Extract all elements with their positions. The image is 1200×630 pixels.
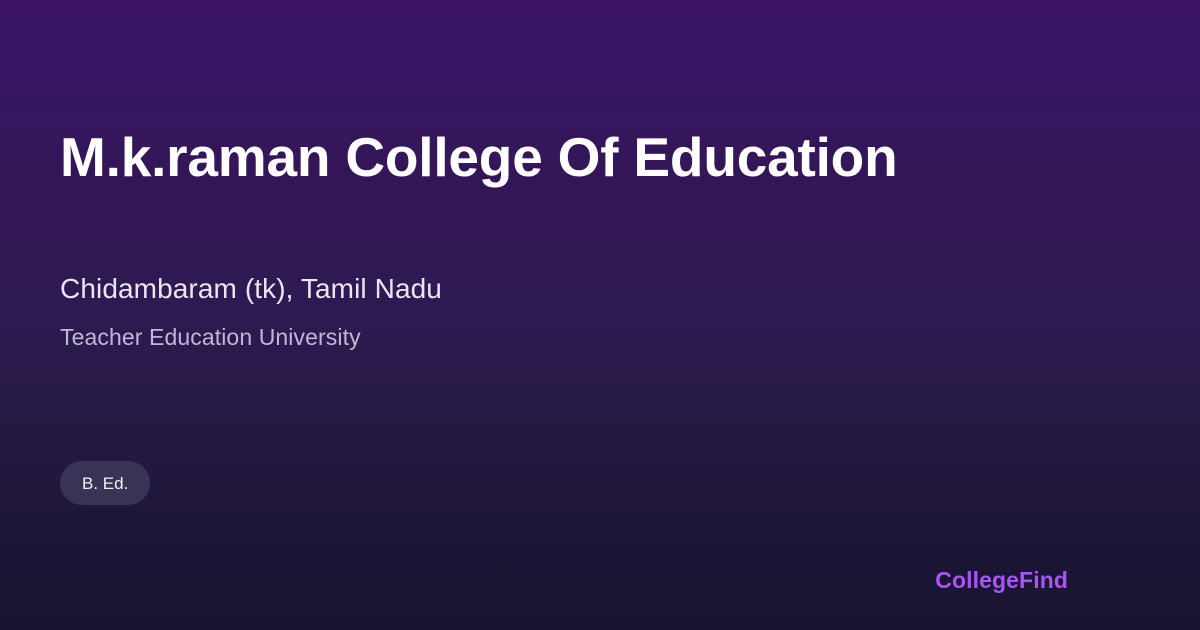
location-text: Chidambaram (tk), Tamil Nadu xyxy=(60,272,442,306)
course-badge-list: B. Ed. xyxy=(60,461,150,505)
card-meta: Chidambaram (tk), Tamil Nadu Teacher Edu… xyxy=(60,272,442,351)
institution-type-text: Teacher Education University xyxy=(60,323,442,351)
brand-wordmark: CollegeFind xyxy=(935,566,1068,594)
share-card: M.k.raman College Of Education Chidambar… xyxy=(0,0,1200,630)
course-badge: B. Ed. xyxy=(60,461,150,505)
card-content: M.k.raman College Of Education Chidambar… xyxy=(60,0,1140,630)
page-title: M.k.raman College Of Education xyxy=(60,126,897,188)
